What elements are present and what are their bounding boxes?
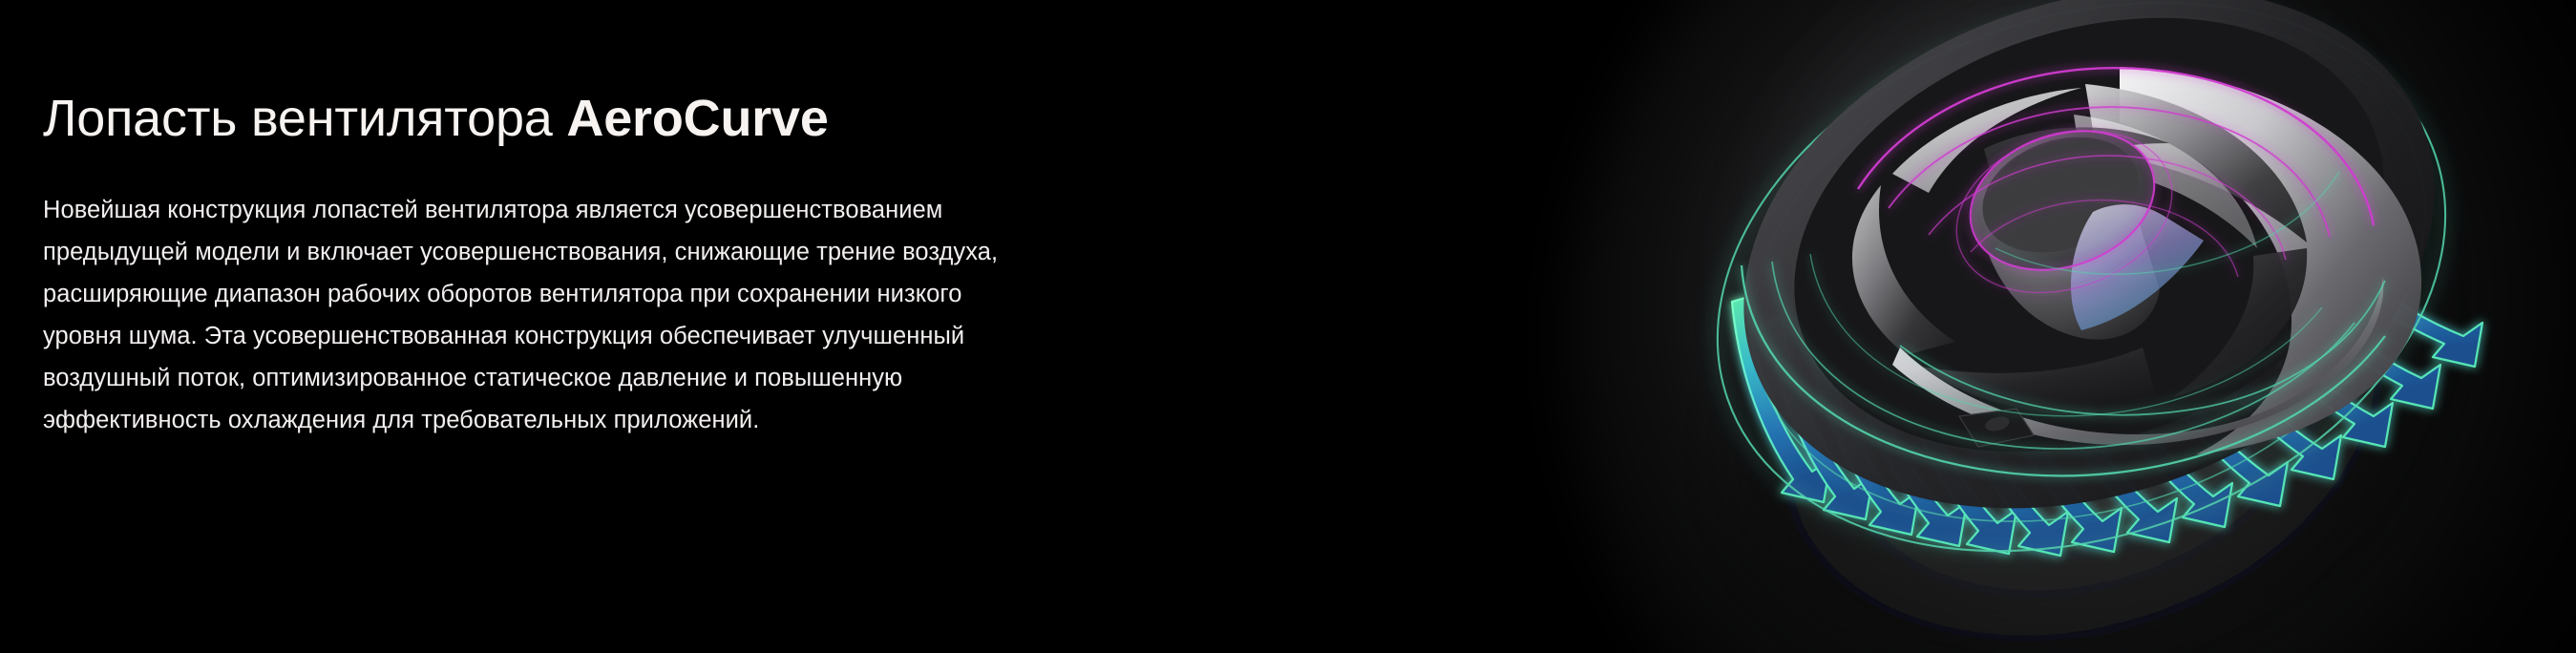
body-line: расширяющие диапазон рабочих оборотов ве… bbox=[43, 273, 1494, 315]
contour-curve-teal bbox=[1742, 172, 2385, 475]
headline-lead: Лопасть вентилятора bbox=[43, 90, 566, 147]
violet-guide-vane bbox=[2071, 204, 2204, 330]
fan-shroud bbox=[1673, 0, 2504, 597]
body-line: воздушный поток, оптимизированное статич… bbox=[43, 357, 1494, 399]
body-line: уровня шума. Эта усовершенствованная кон… bbox=[43, 315, 1494, 357]
fan-blade-set bbox=[1852, 84, 2307, 413]
fan-blade-feature-section: Лопасть вентилятора AeroCurve Новейшая к… bbox=[0, 0, 2576, 653]
fan-hub-cone bbox=[1978, 174, 2160, 340]
body-line: Новейшая конструкция лопастей вентилятор… bbox=[43, 189, 1494, 231]
body-paragraph: Новейшая конструкция лопастей вентилятор… bbox=[43, 189, 1494, 442]
contour-ring-magenta bbox=[1858, 68, 2374, 320]
fan-connector-block bbox=[1959, 409, 2034, 447]
body-line: предыдущей модели и включает усовершенст… bbox=[43, 231, 1494, 273]
contour-ring-teal bbox=[1643, 0, 2520, 644]
render-shadow-ellipse bbox=[1600, 6, 2562, 653]
fan-rim-highlight bbox=[2120, 67, 2421, 454]
fan-bowl bbox=[1736, 0, 2443, 527]
fan-hub-top bbox=[1953, 109, 2172, 292]
airflow-arrow-group bbox=[1732, 231, 2482, 556]
body-line: эффективность охлаждения для требователь… bbox=[43, 399, 1494, 441]
fan-front-band bbox=[1892, 277, 2383, 445]
fan-blade-render bbox=[1585, 0, 2576, 653]
page-title: Лопасть вентилятора AeroCurve bbox=[43, 88, 1494, 151]
background-glow-inner bbox=[1738, 0, 2425, 630]
copy-block: Лопасть вентилятора AeroCurve Новейшая к… bbox=[43, 88, 1494, 442]
fan-body bbox=[1673, 0, 2504, 597]
fan-hub-cap bbox=[1967, 117, 2154, 272]
background-glow bbox=[1566, 0, 2576, 653]
headline-brand: AeroCurve bbox=[566, 90, 828, 147]
